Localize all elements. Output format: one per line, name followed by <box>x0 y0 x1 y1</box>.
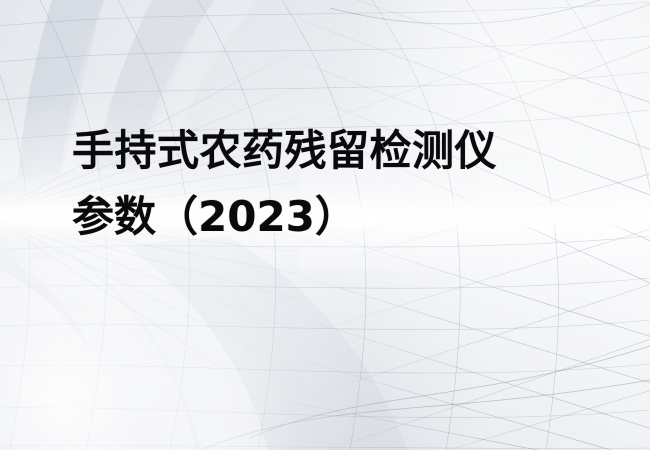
poster-title-line-1: 手持式农药残留检测仪 <box>72 118 592 184</box>
poster-title: 手持式农药残留检测仪 参数（2023） <box>72 118 592 250</box>
poster-title-line-2: 参数（2023） <box>72 184 592 250</box>
title-card-poster: 手持式农药残留检测仪 参数（2023） <box>0 0 650 450</box>
